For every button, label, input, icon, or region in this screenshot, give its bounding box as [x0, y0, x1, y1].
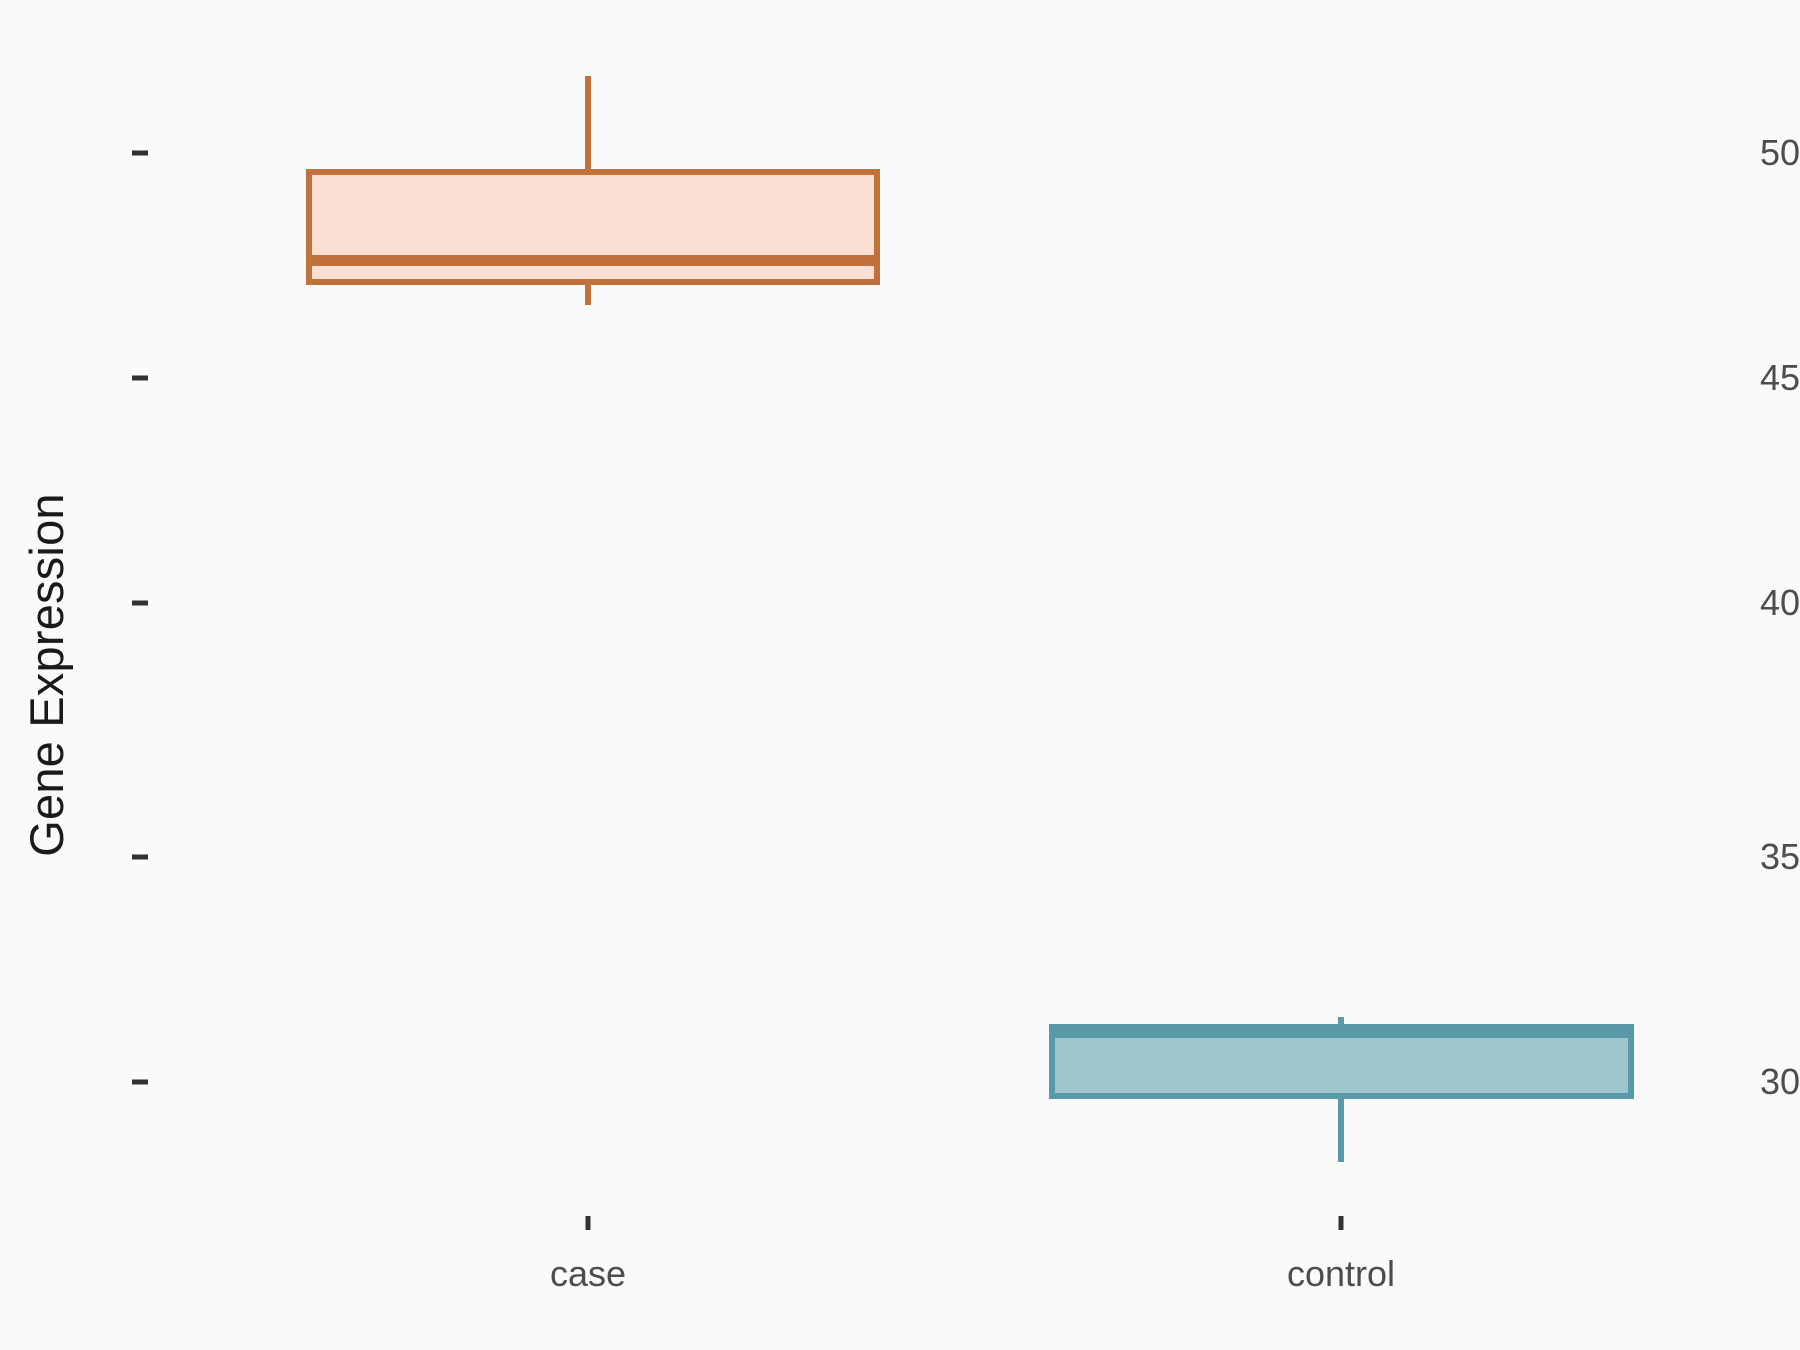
y-tick-mark-35 [132, 855, 148, 860]
x-tick-label-case: case [550, 1253, 626, 1295]
y-tick-label-30: 30 [1680, 1061, 1800, 1103]
case-median-line [306, 255, 880, 266]
y-tick-label-45: 45 [1680, 357, 1800, 399]
boxplot-chart: Gene Expression 50 45 40 35 30 [0, 0, 1800, 1350]
y-tick-mark-30 [132, 1080, 148, 1085]
y-tick-mark-50 [132, 151, 148, 156]
y-tick-mark-40 [132, 601, 148, 606]
plot-area: 50 45 40 35 30 case [0, 0, 1800, 1350]
x-tick-label-control: control [1287, 1253, 1395, 1295]
case-upper-whisker [585, 76, 591, 171]
control-median-line [1049, 1029, 1634, 1038]
case-box-rect[interactable] [306, 169, 880, 285]
y-tick-label-50: 50 [1680, 132, 1800, 174]
y-tick-label-40: 40 [1680, 582, 1800, 624]
case-lower-whisker [585, 283, 591, 305]
x-tick-mark-case [586, 1216, 591, 1230]
control-lower-whisker [1338, 1097, 1344, 1162]
x-tick-mark-control [1339, 1216, 1344, 1230]
y-tick-mark-45 [132, 376, 148, 381]
y-tick-label-35: 35 [1680, 836, 1800, 878]
